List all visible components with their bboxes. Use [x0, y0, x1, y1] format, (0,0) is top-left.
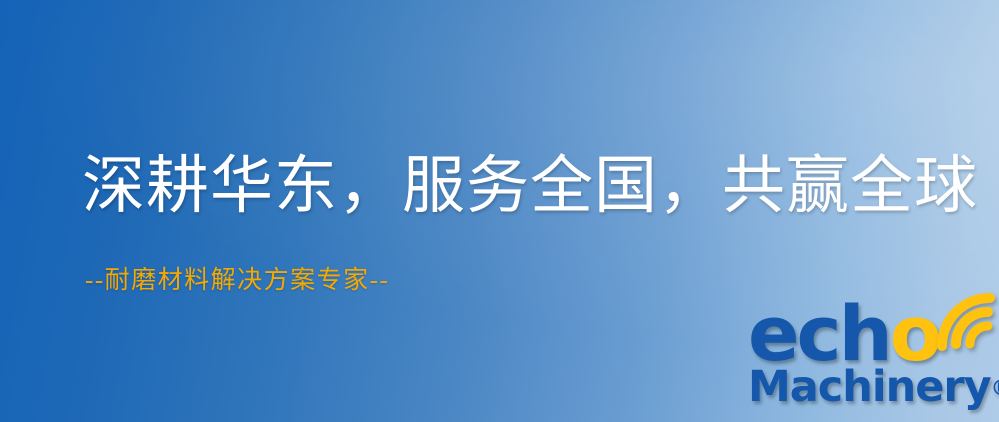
logo-subword: Machinery®	[748, 364, 999, 411]
registered-trademark-icon: ®	[991, 376, 999, 400]
logo-subword-text: Machinery	[748, 362, 991, 412]
company-logo: echo Machinery®	[744, 296, 996, 418]
promo-banner: 深耕华东，服务全国，共赢全球 --耐磨材料解决方案专家-- echo Machi…	[0, 0, 999, 422]
page-title: 深耕华东，服务全国，共赢全球	[82, 152, 978, 220]
signal-waves-icon	[934, 290, 999, 354]
logo-wordmark: echo	[748, 296, 939, 372]
banner-subtitle: --耐磨材料解决方案专家--	[85, 266, 389, 296]
